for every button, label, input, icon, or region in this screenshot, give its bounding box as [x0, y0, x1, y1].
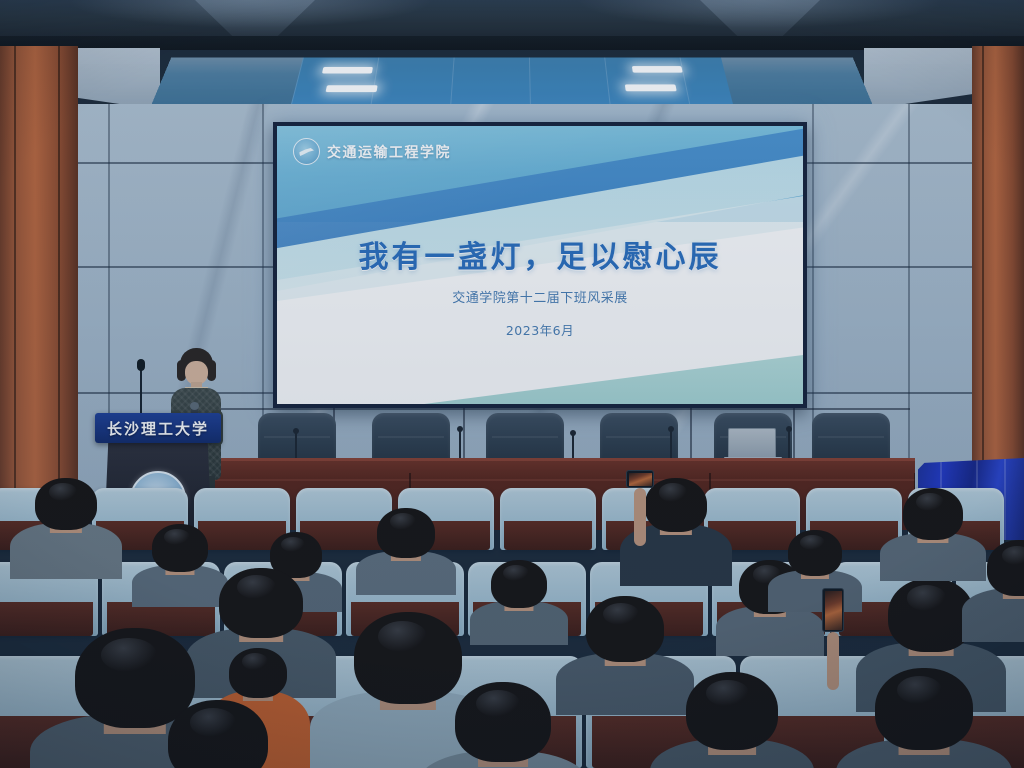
presentation-slide: 交通运输工程学院 我有一盏灯，足以慰心辰 交通学院第十二届下班风采展 2023年… — [277, 126, 803, 404]
desk-microphone-4 — [670, 430, 672, 458]
person-hair-highlight — [190, 708, 236, 737]
person-hair-highlight — [476, 690, 520, 717]
stage-chair-4[interactable] — [600, 413, 678, 463]
person-head — [788, 530, 842, 576]
slide-title: 我有一盏灯，足以慰心辰 — [277, 232, 803, 276]
audience-member — [650, 672, 814, 768]
person-hair-highlight — [603, 603, 639, 625]
audience-member — [470, 560, 568, 652]
stage-chair-6[interactable] — [812, 413, 890, 463]
person-hair-highlight — [281, 537, 305, 553]
audience-member — [768, 530, 862, 618]
desk-microphone-1 — [295, 432, 297, 458]
audience-seat[interactable] — [500, 488, 596, 550]
ceiling-light-icon-2 — [326, 85, 378, 92]
ceiling-light-icon-4 — [625, 84, 677, 91]
stage-rail — [210, 408, 910, 410]
person-hair-highlight — [101, 638, 156, 672]
slide-subtitle: 交通学院第十二届下班风采展 — [277, 287, 803, 306]
person-hair-highlight — [1002, 546, 1024, 565]
ceiling-blue-panel — [150, 57, 874, 108]
person-head — [168, 700, 268, 768]
person-head — [586, 596, 664, 662]
audience-member — [962, 540, 1024, 650]
ceiling-light-icon-3 — [632, 66, 683, 73]
audience-member — [418, 682, 588, 768]
person-hair-highlight — [164, 529, 190, 545]
college-crest-icon — [293, 138, 320, 165]
phone-screen — [629, 473, 652, 486]
person-hair-highlight — [503, 565, 529, 581]
person-hair-highlight — [242, 653, 269, 670]
desk-microphone-5 — [788, 430, 790, 458]
seat-wood-panel — [504, 521, 592, 550]
person-head — [35, 478, 97, 530]
person-hair-highlight — [916, 493, 944, 511]
person-head — [903, 488, 963, 540]
person-head — [455, 682, 551, 762]
raised-arm — [634, 488, 646, 546]
person-hair-highlight — [237, 575, 276, 599]
podium-top: 长沙理工大学 — [95, 413, 221, 443]
slide-diagonal-teal — [277, 334, 803, 404]
audience-member — [128, 700, 308, 768]
phone-camera-raised[interactable] — [626, 470, 654, 488]
ceiling-panel-core — [290, 57, 734, 108]
desk-microphone-2 — [459, 430, 461, 458]
slide-logo-text: 交通运输工程学院 — [327, 142, 451, 162]
slide-date: 2023年6月 — [277, 320, 803, 339]
person-hair-highlight — [49, 483, 78, 501]
audience-member — [836, 668, 1012, 768]
person-head — [229, 648, 287, 698]
slide-logo: 交通运输工程学院 — [293, 138, 451, 165]
person-head — [491, 560, 547, 608]
person-hair-highlight — [800, 535, 825, 551]
phone-screen — [825, 591, 842, 630]
auditorium-scene: 交通运输工程学院 我有一盏灯，足以慰心辰 交通学院第十二届下班风采展 2023年… — [0, 0, 1024, 768]
raised-arm — [827, 632, 839, 690]
phone-screen-held[interactable] — [822, 588, 844, 632]
laptop-icon[interactable] — [728, 428, 776, 458]
person-head — [152, 524, 208, 572]
ceiling-trim-band — [0, 36, 1024, 50]
projection-screen[interactable]: 交通运输工程学院 我有一盏灯，足以慰心辰 交通学院第十二届下班风采展 2023年… — [273, 122, 807, 408]
person-hair-highlight — [390, 513, 417, 530]
person-hair-highlight — [907, 585, 947, 610]
floor-microphone — [140, 368, 142, 418]
person-head — [686, 672, 778, 750]
wood-pillar-left — [0, 46, 78, 516]
person-head — [987, 540, 1024, 596]
person-head — [377, 508, 435, 558]
person-head — [645, 478, 707, 532]
podium-label: 长沙理工大学 — [95, 413, 221, 443]
stage-chair-3[interactable] — [486, 413, 564, 463]
ceiling-light-icon-1 — [322, 67, 373, 74]
audience-member — [356, 508, 456, 602]
audience-member-masked-left — [10, 478, 122, 586]
person-hair-highlight — [706, 680, 748, 707]
person-hair-highlight — [659, 483, 688, 501]
desk-microphone-3 — [572, 434, 574, 458]
stage-chair-1[interactable] — [258, 413, 336, 463]
person-head — [875, 668, 973, 750]
ceiling — [0, 0, 1024, 44]
audience-area: 13 — [0, 470, 1024, 768]
person-hair-highlight — [378, 621, 428, 652]
stage-chair-2[interactable] — [372, 413, 450, 463]
wood-pillar-right — [972, 46, 1024, 516]
person-hair-highlight — [897, 676, 942, 704]
